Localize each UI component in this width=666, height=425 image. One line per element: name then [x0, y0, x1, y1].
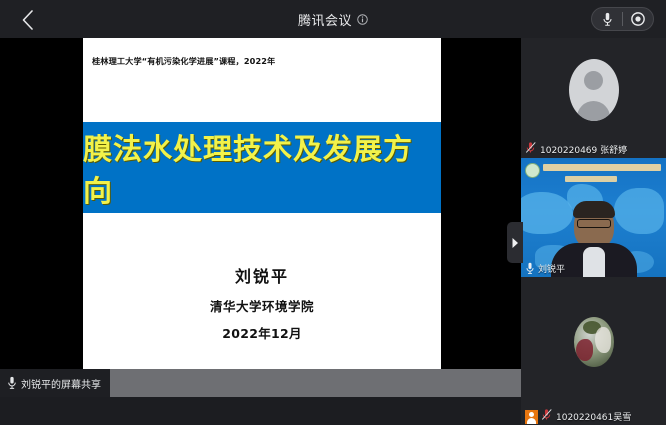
forum-seal-icon — [525, 163, 540, 178]
participant-tile[interactable]: 刘锐平 — [521, 158, 666, 277]
participant-name: 1020220461吴雪 — [556, 410, 631, 423]
share-status-bar: 刘锐平的屏幕共享 — [0, 369, 521, 397]
collapse-rail-button[interactable] — [507, 222, 523, 263]
camera-record-icon — [631, 12, 645, 26]
slide-header-text: 桂林理工大学“有机污染化学进展”课程，2022年 — [92, 55, 433, 67]
slide-date: 2022年12月 — [83, 323, 441, 342]
top-bar: 腾讯会议 — [0, 0, 666, 38]
default-avatar-icon — [569, 59, 619, 121]
participant-name: 1020220469 张舒婷 — [540, 143, 627, 156]
meeting-title-text: 腾讯会议 — [298, 10, 352, 29]
slide-organization: 清华大学环境学院 — [83, 296, 441, 315]
slide-title-band: 膜法水处理技术及发展方向 — [83, 122, 441, 213]
camera-toggle-button[interactable] — [623, 8, 653, 30]
microphone-muted-icon — [525, 141, 537, 159]
slide-title-text: 膜法水处理技术及发展方向 — [83, 126, 441, 210]
chevron-right-icon — [511, 237, 519, 249]
host-badge-icon — [525, 410, 538, 424]
participant-tile[interactable]: 1020220461吴雪 — [521, 277, 666, 425]
participant-name-bar: 1020220461吴雪 — [521, 408, 631, 425]
photo-avatar — [574, 317, 614, 367]
banner-line — [565, 176, 617, 182]
meeting-title: 腾讯会议 — [0, 0, 666, 38]
participant-rail: 1020220469 张舒婷 — [521, 38, 666, 425]
presentation-slide: 桂林理工大学“有机污染化学进展”课程，2022年 膜法水处理技术及发展方向 刘锐… — [83, 38, 441, 389]
meeting-window: 腾讯会议 — [0, 0, 666, 425]
mic-toggle-button[interactable] — [592, 8, 622, 30]
microphone-muted-icon — [541, 408, 553, 425]
share-status-pill: 刘锐平的屏幕共享 — [0, 369, 110, 397]
share-status-label: 刘锐平的屏幕共享 — [21, 376, 101, 391]
shared-screen-stage[interactable]: 桂林理工大学“有机污染化学进展”课程，2022年 膜法水处理技术及发展方向 刘锐… — [0, 38, 521, 397]
participant-name-bar: 1020220469 张舒婷 — [521, 141, 627, 158]
banner-line — [543, 164, 661, 171]
microphone-icon — [602, 12, 613, 27]
microphone-icon — [525, 262, 535, 275]
info-icon[interactable] — [357, 14, 368, 25]
participant-name-bar: 刘锐平 — [521, 260, 565, 277]
slide-byline: 刘锐平 清华大学环境学院 2022年12月 — [83, 263, 441, 342]
microphone-icon — [7, 376, 17, 390]
participant-name: 刘锐平 — [538, 262, 565, 275]
topbar-controls — [591, 7, 654, 31]
slide-presenter-name: 刘锐平 — [83, 263, 441, 287]
participant-tile[interactable]: 1020220469 张舒婷 — [521, 38, 666, 158]
